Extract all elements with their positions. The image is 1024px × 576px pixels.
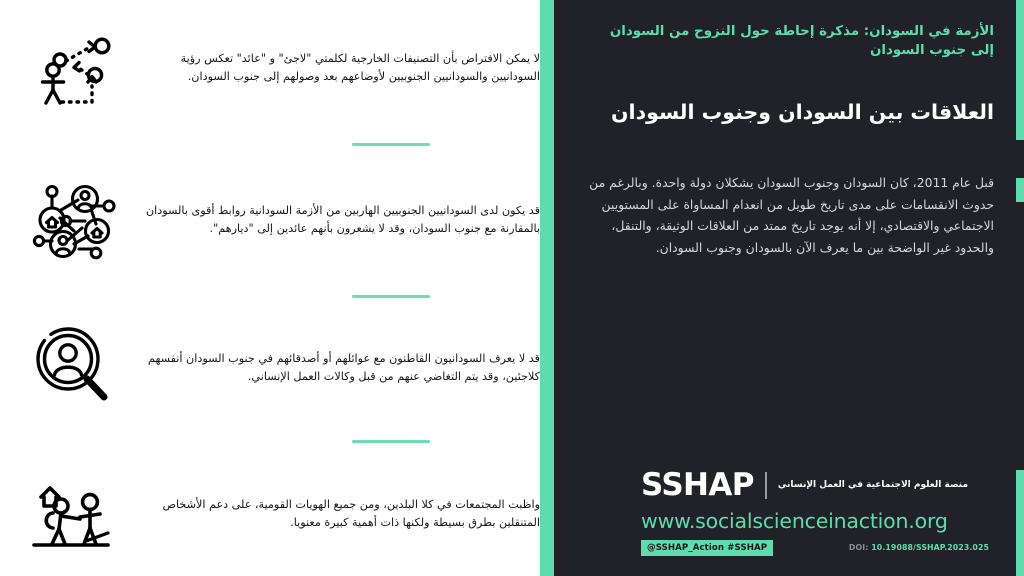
brief-kicker: الأزمة في السودان: مذكرة إحاطة حول النزو…: [586, 22, 994, 60]
section-divider: [352, 295, 430, 298]
teal-spine-divider: [540, 0, 554, 576]
footer-brand-block: SSHAP منصة العلوم الاجتماعية في العمل ال…: [584, 470, 989, 556]
magnifier-person-icon: [20, 320, 128, 416]
edge-accent-bottom: [1016, 470, 1024, 576]
sshap-wordmark: SSHAP: [641, 470, 754, 501]
social-network-households-icon: [20, 172, 128, 268]
page-title: العلاقات بين السودان وجنوب السودان: [586, 98, 994, 127]
edge-accent-top: [1016, 0, 1024, 140]
social-handle-badge: @SSHAP_Action #SSHAP: [641, 540, 773, 556]
footer-meta-row: @SSHAP_Action #SSHAP DOI: 10.19088/SSHAP…: [641, 540, 989, 556]
key-point-text: قد لا يعرف السودانيون القاطنون مع عوائله…: [128, 350, 540, 386]
summary-panel: الأزمة في السودان: مذكرة إحاطة حول النزو…: [554, 0, 1024, 576]
key-point-item: لا يمكن الافتراض بأن التصنيفات الخارجية …: [0, 20, 540, 116]
section-divider: [352, 143, 430, 146]
edge-accent-middle: [1016, 178, 1024, 202]
key-point-item: واظبت المجتمعات في كلا البلدين، ومن جميع…: [0, 466, 540, 562]
migration-path-person-icon: [20, 20, 128, 116]
doi-value: 10.19088/SSHAP.2023.025: [871, 543, 989, 552]
key-point-text: واظبت المجتمعات في كلا البلدين، ومن جميع…: [128, 496, 540, 532]
doi-label: DOI:: [849, 543, 869, 552]
section-divider: [352, 440, 430, 443]
summary-body-text: قبل عام 2011، كان السودان وجنوب السودان …: [584, 172, 994, 258]
key-point-item: قد لا يعرف السودانيون القاطنون مع عوائله…: [0, 320, 540, 416]
brand-divider-rule: [765, 472, 767, 499]
key-point-text: لا يمكن الافتراض بأن التصنيفات الخارجية …: [128, 50, 540, 86]
key-point-item: قد يكون لدى السودانيين الجنوبيين الهاربي…: [0, 172, 540, 268]
brand-lockup: SSHAP منصة العلوم الاجتماعية في العمل ال…: [641, 470, 989, 501]
website-url[interactable]: www.socialscienceinaction.org: [641, 510, 989, 533]
brand-tagline: منصة العلوم الاجتماعية في العمل الإنساني: [778, 479, 968, 491]
key-point-text: قد يكون لدى السودانيين الجنوبيين الهاربي…: [128, 202, 540, 238]
key-points-panel: لا يمكن الافتراض بأن التصنيفات الخارجية …: [0, 0, 540, 576]
infographic-page: لا يمكن الافتراض بأن التصنيفات الخارجية …: [0, 0, 1024, 576]
doi-line: DOI: 10.19088/SSHAP.2023.025: [849, 543, 989, 552]
people-helping-home-icon: [20, 466, 128, 562]
